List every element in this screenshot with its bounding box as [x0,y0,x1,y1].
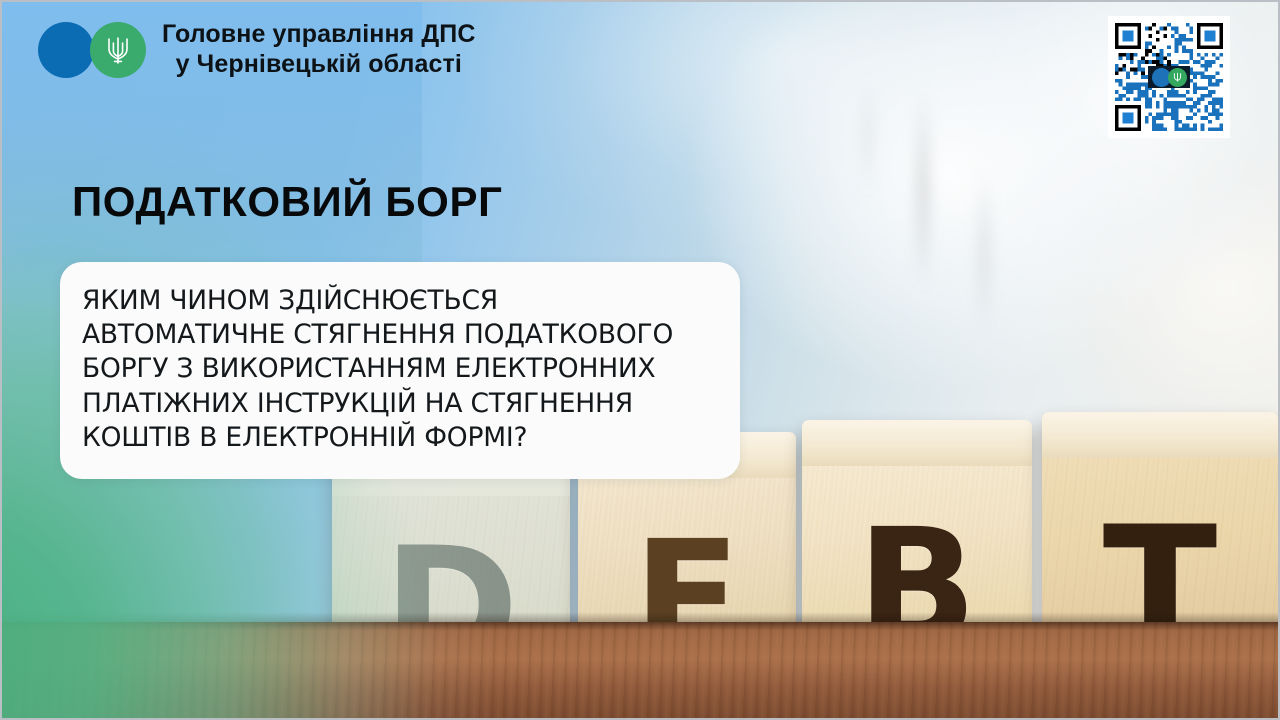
qr-logo-green-circle-icon [1168,68,1187,87]
block-top [802,420,1032,466]
header: Головне управління ДПС у Чернівецькій об… [38,20,476,79]
trident-emblem-icon [90,22,146,78]
question-line: БОРГУ З ВИКОРИСТАННЯМ ЕЛЕКТРОННИХ [82,352,714,386]
block-top [1042,412,1278,458]
organization-name: Головне управління ДПС у Чернівецькій об… [162,20,476,79]
qr-code-canvas [1115,23,1223,131]
dps-logo [38,22,146,78]
qr-code[interactable] [1108,16,1230,138]
question-line: ЯКИМ ЧИНОМ ЗДІЙСНЮЄТЬСЯ [82,284,714,318]
question-line: АВТОМАТИЧНЕ СТЯГНЕННЯ ПОДАТКОВОГО [82,318,714,352]
blue-circle-icon [38,22,94,78]
qr-center-logo [1148,66,1190,88]
question-line: КОШТІВ В ЕЛЕКТРОННІЙ ФОРМІ? [82,421,714,455]
question-card: ЯКИМ ЧИНОМ ЗДІЙСНЮЄТЬСЯ АВТОМАТИЧНЕ СТЯГ… [60,262,740,479]
slide: D E B T [0,0,1280,720]
page-title: ПОДАТКОВИЙ БОРГ [72,178,502,226]
wooden-table-surface [2,622,1278,718]
question-line: ПЛАТІЖНИХ ІНСТРУКЦІЙ НА СТЯГНЕННЯ [82,387,714,421]
